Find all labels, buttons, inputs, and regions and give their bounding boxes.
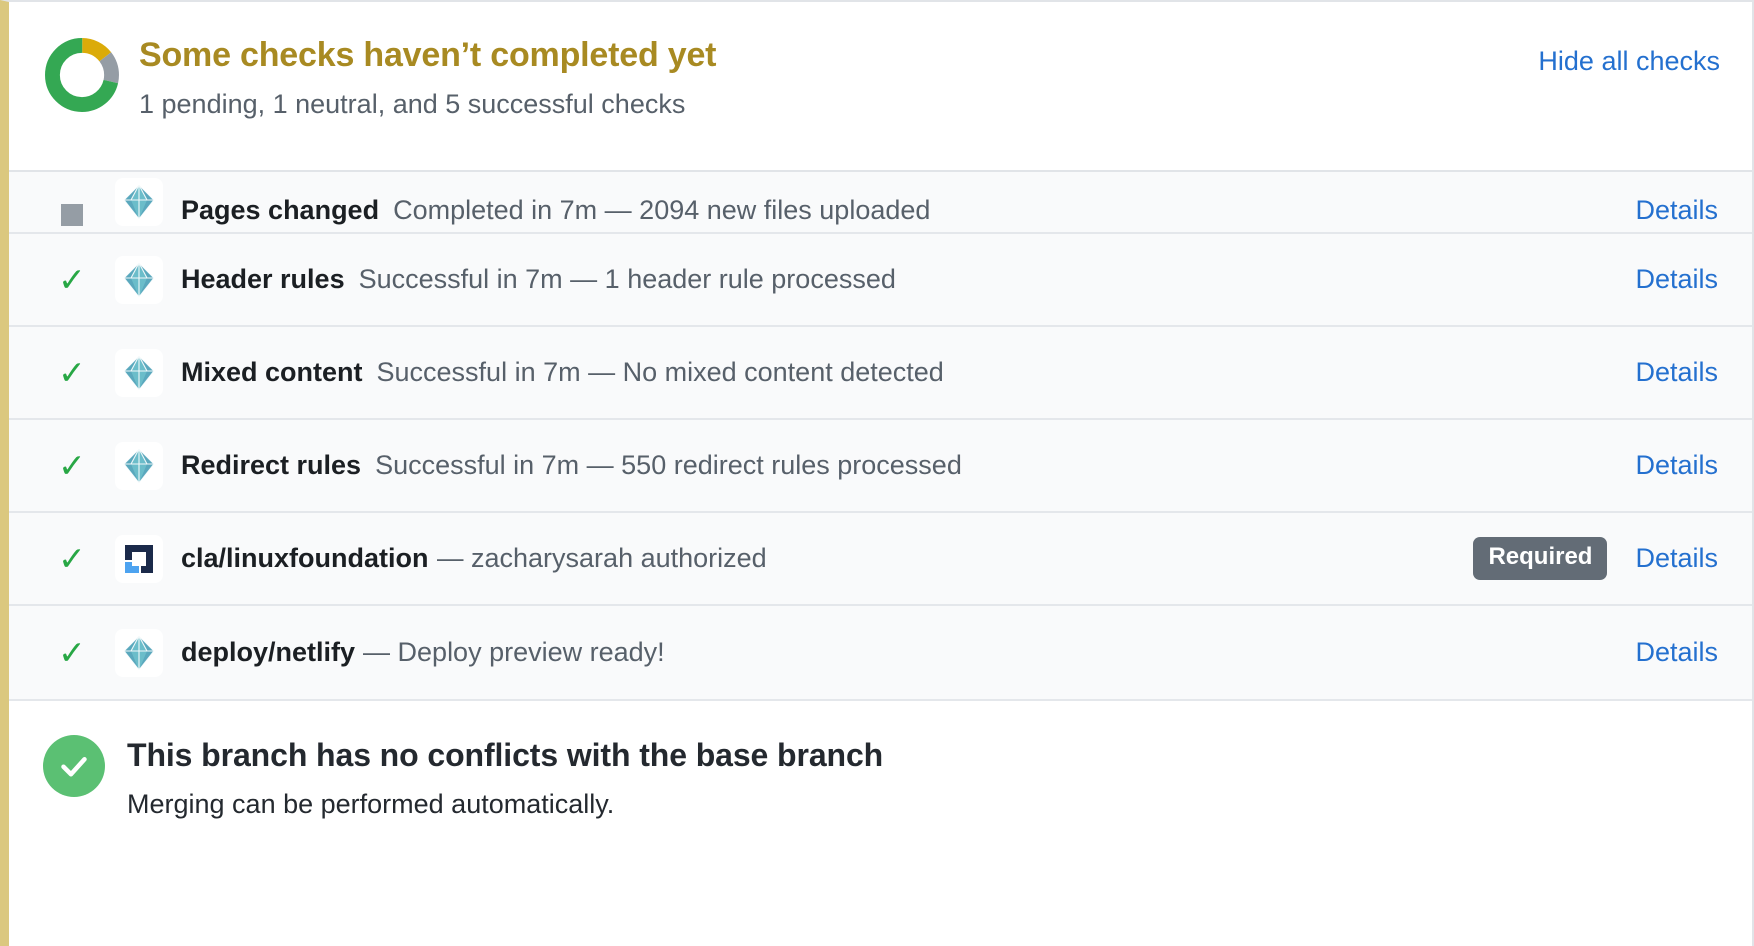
table-row[interactable]: ✓ cla/linuxfoundation — zacharysarah aut… — [9, 513, 1752, 606]
check-success-icon: ✓ — [51, 356, 93, 389]
check-name: deploy/netlify — [181, 637, 355, 668]
checks-header-title: Some checks haven’t completed yet — [139, 34, 1718, 77]
check-description: Successful in 7m — 1 header rule process… — [359, 264, 896, 295]
details-link[interactable]: Details — [1635, 357, 1718, 388]
linux-foundation-icon — [115, 535, 163, 583]
netlify-diamond-icon — [115, 442, 163, 490]
details-link[interactable]: Details — [1635, 195, 1718, 226]
table-row[interactable]: ✓ Heade — [9, 234, 1752, 327]
check-description: Completed in 7m — 2094 new files uploade… — [393, 195, 930, 226]
table-row[interactable]: ✓ Mixed — [9, 327, 1752, 420]
netlify-diamond-icon — [115, 629, 163, 677]
check-name: cla/linuxfoundation — [181, 543, 429, 574]
checks-header-subtitle: 1 pending, 1 neutral, and 5 successful c… — [139, 87, 1718, 122]
merge-status-box: Some checks haven’t completed yet 1 pend… — [0, 0, 1754, 946]
table-row[interactable]: Pages changed Completed in 7m — 2094 new… — [9, 172, 1752, 234]
table-row[interactable]: ✓ deplo — [9, 606, 1752, 699]
check-description: — zacharysarah authorized — [437, 543, 767, 574]
check-name: Redirect rules — [181, 450, 361, 481]
check-description: — Deploy preview ready! — [363, 637, 665, 668]
check-success-icon: ✓ — [51, 449, 93, 482]
check-name: Pages changed — [181, 195, 379, 226]
donut-svg — [43, 36, 121, 114]
table-row[interactable]: ✓ Redir — [9, 420, 1752, 513]
header-text-group: Some checks haven’t completed yet 1 pend… — [139, 30, 1718, 122]
check-description: Successful in 7m — 550 redirect rules pr… — [375, 450, 962, 481]
status-badge: Required — [1473, 537, 1607, 579]
checks-summary-header: Some checks haven’t completed yet 1 pend… — [9, 2, 1752, 170]
check-success-icon: ✓ — [51, 263, 93, 296]
branch-conflict-status: This branch has no conflicts with the ba… — [9, 699, 1752, 852]
checks-list: Pages changed Completed in 7m — 2094 new… — [9, 170, 1752, 699]
neutral-square-icon — [51, 204, 93, 226]
merge-status-title: This branch has no conflicts with the ba… — [127, 735, 883, 777]
merge-text-group: This branch has no conflicts with the ba… — [127, 733, 883, 822]
check-description: Successful in 7m — No mixed content dete… — [377, 357, 944, 388]
check-name: Header rules — [181, 264, 345, 295]
netlify-diamond-icon — [115, 256, 163, 304]
check-success-icon: ✓ — [51, 636, 93, 669]
details-link[interactable]: Details — [1635, 264, 1718, 295]
check-success-icon: ✓ — [51, 542, 93, 575]
details-link[interactable]: Details — [1635, 450, 1718, 481]
details-link[interactable]: Details — [1635, 543, 1718, 574]
hide-all-checks-link[interactable]: Hide all checks — [1538, 46, 1720, 77]
merge-status-subtitle: Merging can be performed automatically. — [127, 787, 883, 822]
check-name: Mixed content — [181, 357, 363, 388]
details-link[interactable]: Details — [1635, 637, 1718, 668]
netlify-diamond-icon — [115, 349, 163, 397]
netlify-diamond-icon — [115, 178, 163, 226]
green-check-circle-icon — [43, 735, 105, 797]
checks-donut-chart — [43, 36, 121, 114]
